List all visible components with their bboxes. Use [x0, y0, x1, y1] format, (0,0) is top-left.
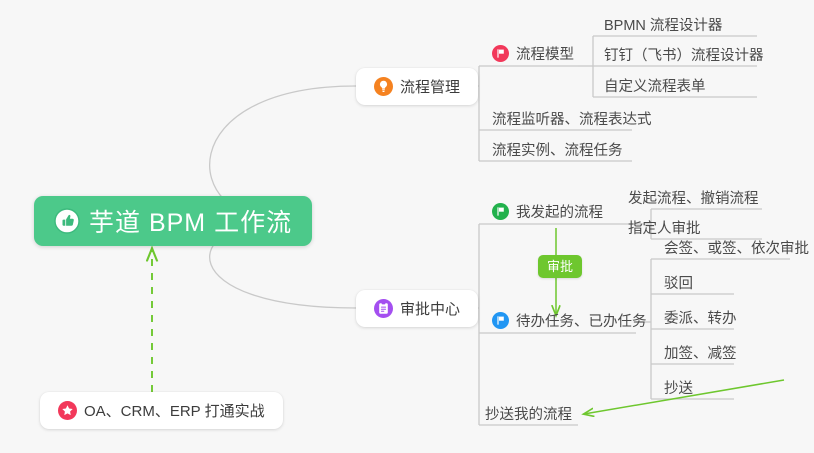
- node-todo-done[interactable]: 待办任务、已办任务: [492, 309, 647, 331]
- approval-relation-badge[interactable]: 审批: [538, 255, 582, 278]
- lightbulb-icon: [374, 77, 393, 96]
- node-multi-sign-label: 会签、或签、依次审批: [664, 237, 809, 258]
- node-my-initiated[interactable]: 我发起的流程: [492, 200, 603, 222]
- node-dingtalk-designer[interactable]: 钉钉（飞书）流程设计器: [604, 43, 764, 65]
- mindmap-canvas: 芋道 BPM 工作流 流程管理 流程模型 流程监听器、流程表达式 流程实例、流: [0, 0, 814, 453]
- node-add-remove-sign-label: 加签、减签: [664, 342, 737, 363]
- node-instance-task-label: 流程实例、流程任务: [492, 139, 623, 160]
- node-approval-center[interactable]: 审批中心: [356, 290, 478, 327]
- node-assignee-approve[interactable]: 指定人审批: [628, 216, 701, 238]
- root-node[interactable]: 芋道 BPM 工作流: [34, 196, 312, 246]
- thumbs-up-icon: [54, 208, 80, 234]
- star-icon: [58, 401, 77, 420]
- node-delegate-transfer[interactable]: 委派、转办: [664, 306, 737, 328]
- node-listener-expression[interactable]: 流程监听器、流程表达式: [492, 107, 652, 129]
- node-integration-practice-label: OA、CRM、ERP 打通实战: [84, 400, 265, 421]
- flag-blue-icon: [492, 312, 509, 329]
- node-cc-to-me[interactable]: 抄送我的流程: [485, 402, 572, 424]
- node-listener-expression-label: 流程监听器、流程表达式: [492, 108, 652, 129]
- node-dingtalk-designer-label: 钉钉（飞书）流程设计器: [604, 44, 764, 65]
- node-start-cancel[interactable]: 发起流程、撤销流程: [628, 186, 759, 208]
- node-multi-sign[interactable]: 会签、或签、依次审批: [664, 236, 809, 258]
- node-my-initiated-label: 我发起的流程: [516, 201, 603, 222]
- node-add-remove-sign[interactable]: 加签、减签: [664, 341, 737, 363]
- node-custom-form-label: 自定义流程表单: [604, 75, 706, 96]
- node-cc[interactable]: 抄送: [664, 376, 693, 398]
- document-icon: [374, 299, 393, 318]
- node-process-management[interactable]: 流程管理: [356, 68, 478, 105]
- flag-red-icon: [492, 45, 509, 62]
- node-process-model-label: 流程模型: [516, 43, 574, 64]
- node-todo-done-label: 待办任务、已办任务: [516, 310, 647, 331]
- node-bpmn-designer[interactable]: BPMN 流程设计器: [604, 13, 722, 35]
- node-custom-form[interactable]: 自定义流程表单: [604, 74, 706, 96]
- node-reject-label: 驳回: [664, 272, 693, 293]
- node-start-cancel-label: 发起流程、撤销流程: [628, 187, 759, 208]
- node-bpmn-designer-label: BPMN 流程设计器: [604, 14, 722, 35]
- flag-green-icon: [492, 203, 509, 220]
- node-cc-label: 抄送: [664, 377, 693, 398]
- node-process-management-label: 流程管理: [400, 76, 460, 97]
- node-delegate-transfer-label: 委派、转办: [664, 307, 737, 328]
- node-assignee-approve-label: 指定人审批: [628, 217, 701, 238]
- approval-relation-badge-label: 审批: [547, 259, 573, 274]
- node-integration-practice[interactable]: OA、CRM、ERP 打通实战: [40, 392, 283, 429]
- root-label: 芋道 BPM 工作流: [89, 203, 292, 239]
- node-reject[interactable]: 驳回: [664, 271, 693, 293]
- node-approval-center-label: 审批中心: [400, 298, 460, 319]
- node-instance-task[interactable]: 流程实例、流程任务: [492, 138, 623, 160]
- node-process-model[interactable]: 流程模型: [492, 42, 574, 64]
- node-cc-to-me-label: 抄送我的流程: [485, 403, 572, 424]
